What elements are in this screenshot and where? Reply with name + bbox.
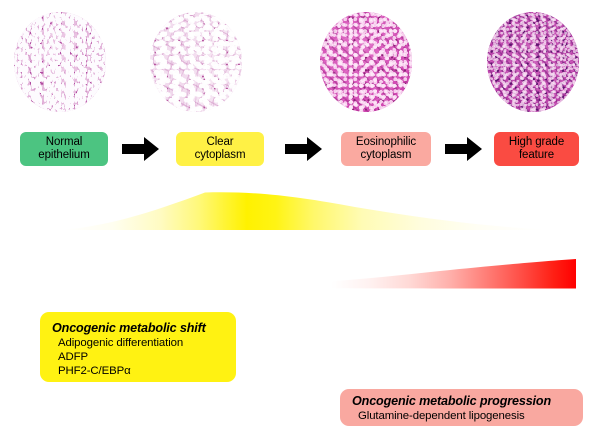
micrograph-texture-2 xyxy=(150,12,242,112)
stage-label-line1: High grade xyxy=(509,136,564,148)
callout-shift-line-2: ADFP xyxy=(52,350,236,364)
micrograph-texture-3 xyxy=(320,12,412,112)
arrow-right-icon-3 xyxy=(445,136,483,162)
histology-high-grade-feature xyxy=(487,12,579,112)
arrow-right-icon-2 xyxy=(285,136,323,162)
stage-label-line2: cytoplasm xyxy=(361,149,412,161)
metabolic-progression-gradient xyxy=(0,255,600,295)
stage-label-line1: Eosinophilic xyxy=(356,136,416,148)
callout-shift-title: Oncogenic metabolic shift xyxy=(52,321,236,336)
stage-label-line2: feature xyxy=(519,149,554,161)
micrograph-texture-4 xyxy=(487,12,579,112)
callout-oncogenic-metabolic-shift[interactable]: Oncogenic metabolic shift Adipogenic dif… xyxy=(40,312,236,382)
callout-shift-line-1: Adipogenic differentiation xyxy=(52,336,236,350)
stage-pill-high-grade-feature[interactable]: High grade feature xyxy=(494,132,579,166)
stage-label-line2: cytoplasm xyxy=(195,149,246,161)
stage-label-normal-epithelium: Normal epithelium xyxy=(38,136,89,163)
stage-label-line1: Normal xyxy=(46,136,82,148)
stage-label-eosinophilic-cytoplasm: Eosinophilic cytoplasm xyxy=(356,136,416,163)
stage-pill-clear-cytoplasm[interactable]: Clear cytoplasm xyxy=(176,132,264,166)
histology-normal-epithelium xyxy=(14,12,106,112)
stage-label-line2: epithelium xyxy=(38,149,89,161)
progression-figure: Normal epithelium Clear cytoplasm Eosino… xyxy=(0,0,600,441)
stage-label-line1: Clear xyxy=(207,136,234,148)
stage-pill-eosinophilic-cytoplasm[interactable]: Eosinophilic cytoplasm xyxy=(341,132,431,166)
callout-shift-line-3: PHF2-C/EBPα xyxy=(52,364,236,378)
micrograph-texture-1 xyxy=(14,12,106,112)
callout-progression-title: Oncogenic metabolic progression xyxy=(352,394,583,409)
metabolic-shift-gradient xyxy=(0,185,600,235)
stage-label-high-grade-feature: High grade feature xyxy=(509,136,564,163)
stage-label-clear-cytoplasm: Clear cytoplasm xyxy=(195,136,246,163)
arrow-right-icon-1 xyxy=(122,136,160,162)
histology-clear-cytoplasm xyxy=(150,12,242,112)
stage-pill-normal-epithelium[interactable]: Normal epithelium xyxy=(20,132,108,166)
histology-eosinophilic-cytoplasm xyxy=(320,12,412,112)
callout-oncogenic-metabolic-progression[interactable]: Oncogenic metabolic progression Glutamin… xyxy=(340,389,583,426)
callout-progression-line-1: Glutamine-dependent lipogenesis xyxy=(352,409,583,423)
